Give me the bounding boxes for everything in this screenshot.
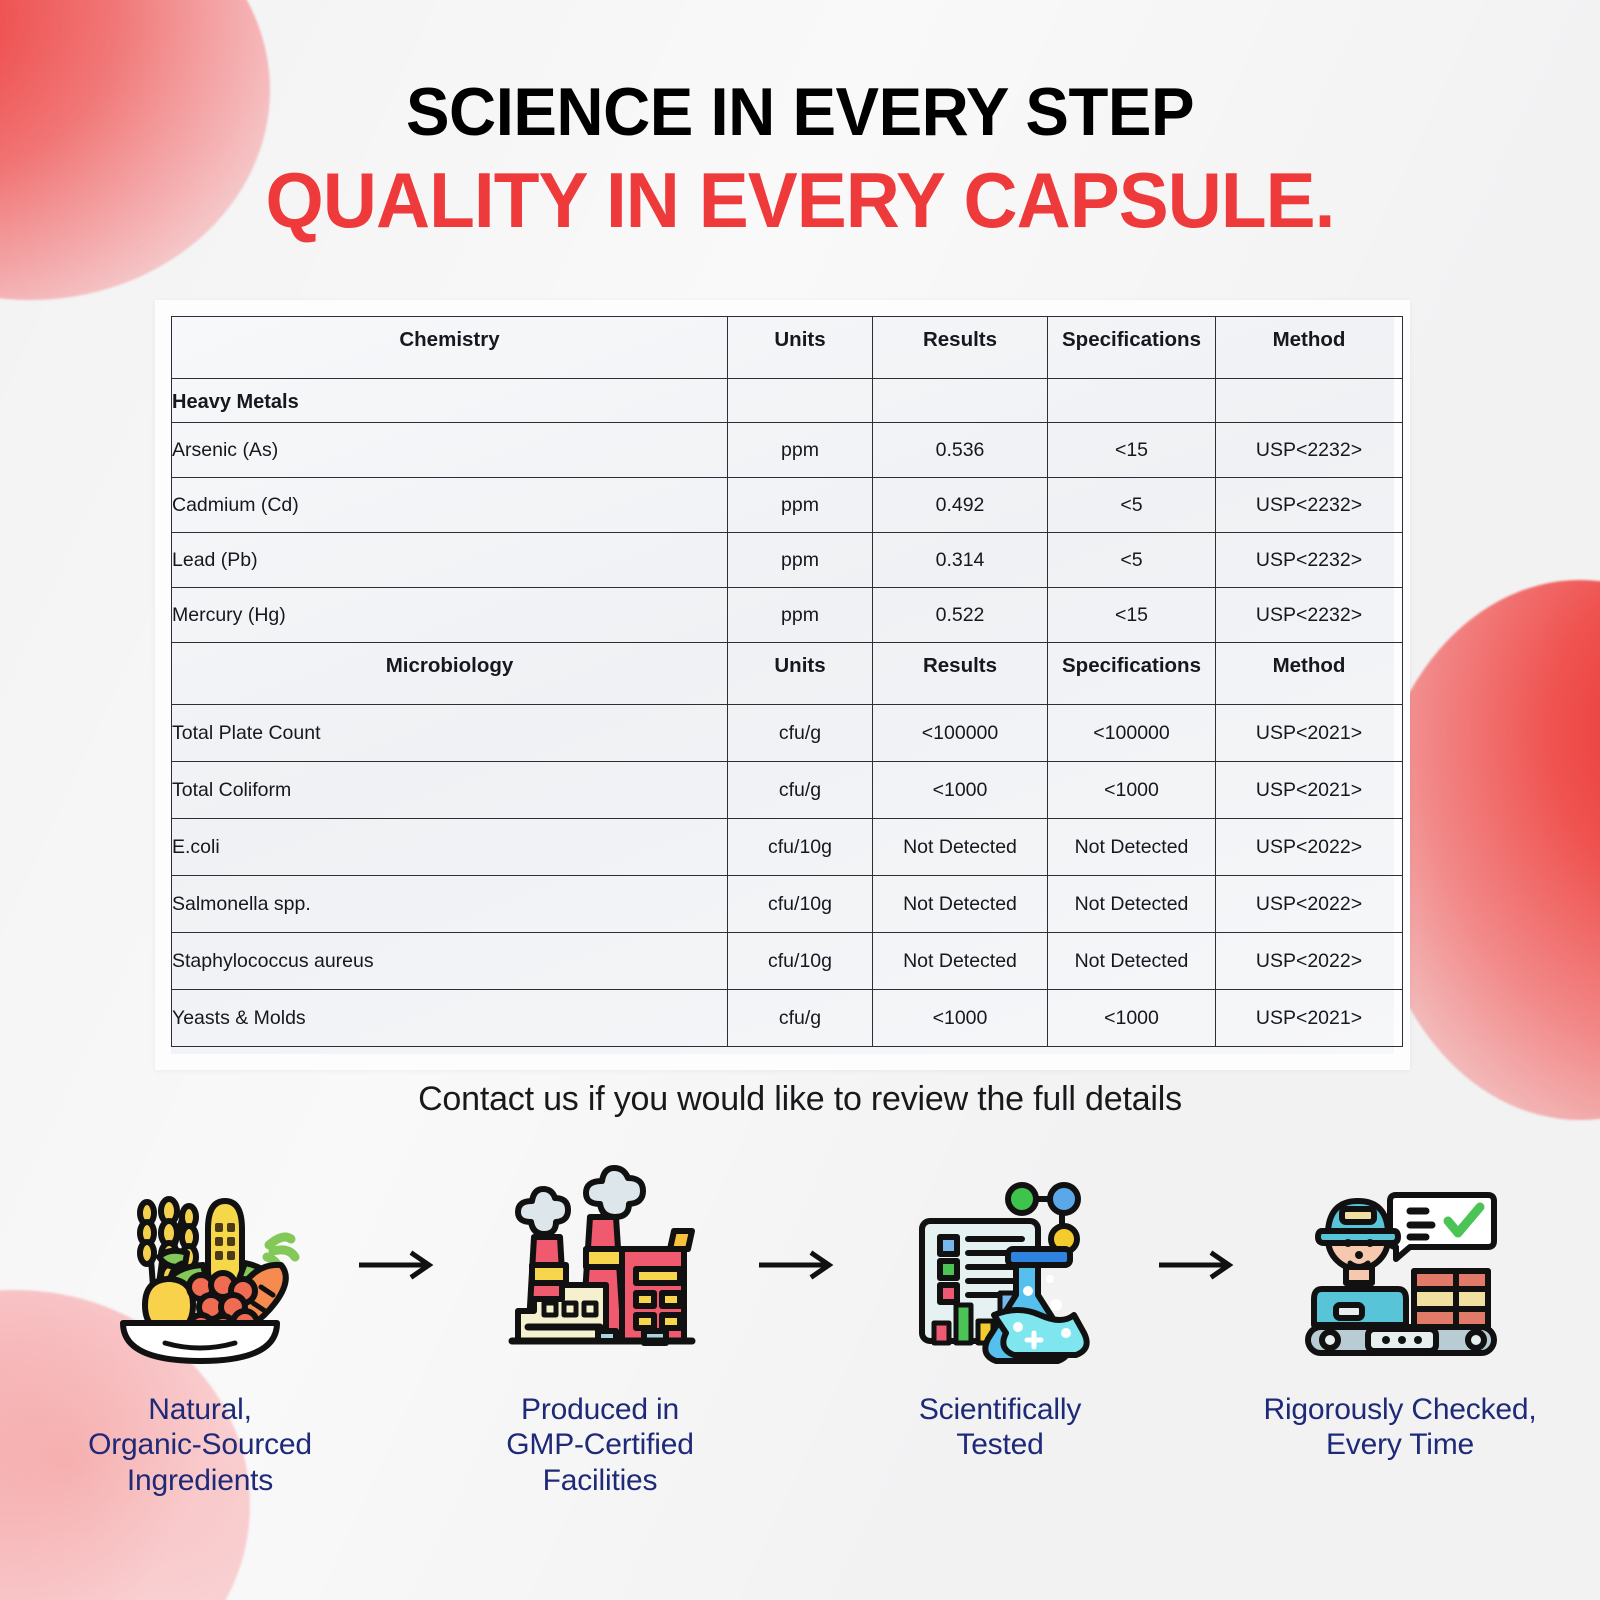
group-units-blank xyxy=(728,379,873,423)
analyte-method: USP<2022> xyxy=(1216,876,1403,933)
col-header-specs-chem: Specifications xyxy=(1048,317,1216,379)
analyte-result: Not Detected xyxy=(873,819,1048,876)
analyte-result: <1000 xyxy=(873,990,1048,1047)
factory-icon xyxy=(450,1160,750,1370)
analyte-name: Staphylococcus aureus xyxy=(172,933,728,990)
analyte-spec: Not Detected xyxy=(1048,876,1216,933)
col-header-results-chem: Results xyxy=(873,317,1048,379)
analyte-spec: Not Detected xyxy=(1048,933,1216,990)
feature-label: Natural,Organic-SourcedIngredients xyxy=(50,1392,350,1498)
fruit-bowl-icon xyxy=(50,1160,350,1370)
col-header-specs-micro: Specifications xyxy=(1048,643,1216,705)
col-header-results-micro: Results xyxy=(873,643,1048,705)
feature-item-scientifically-tested: ScientificallyTested xyxy=(850,1160,1150,1463)
analyte-result: 0.536 xyxy=(873,423,1048,478)
chemistry-header-row: Chemistry Units Results Specifications M… xyxy=(172,317,1403,379)
analyte-spec: <1000 xyxy=(1048,762,1216,819)
analyte-method: USP<2021> xyxy=(1216,705,1403,762)
inspector-conveyor-icon xyxy=(1250,1160,1550,1370)
analyte-result: <1000 xyxy=(873,762,1048,819)
analyte-name: Total Coliform xyxy=(172,762,728,819)
analyte-spec: <15 xyxy=(1048,423,1216,478)
table-row: Salmonella spp. cfu/10g Not Detected Not… xyxy=(172,876,1403,933)
table-row: Total Coliform cfu/g <1000 <1000 USP<202… xyxy=(172,762,1403,819)
table-row: Total Plate Count cfu/g <100000 <100000 … xyxy=(172,705,1403,762)
analyte-spec: Not Detected xyxy=(1048,819,1216,876)
group-results-blank xyxy=(873,379,1048,423)
analyte-units: ppm xyxy=(728,588,873,643)
feature-item-rigorously-checked: Rigorously Checked,Every Time xyxy=(1250,1160,1550,1463)
feature-item-natural-ingredients: Natural,Organic-SourcedIngredients xyxy=(50,1160,350,1498)
analyte-name: Mercury (Hg) xyxy=(172,588,728,643)
analyte-method: USP<2232> xyxy=(1216,423,1403,478)
col-header-method-chem: Method xyxy=(1216,317,1403,379)
analyte-spec: <100000 xyxy=(1048,705,1216,762)
headline-line-1: SCIENCE IN EVERY STEP xyxy=(32,78,1568,146)
col-header-microbiology: Microbiology xyxy=(172,643,728,705)
group-method-blank xyxy=(1216,379,1403,423)
table-row: Lead (Pb) ppm 0.314 <5 USP<2232> xyxy=(172,533,1403,588)
col-header-method-micro: Method xyxy=(1216,643,1403,705)
feature-label: ScientificallyTested xyxy=(850,1392,1150,1463)
analyte-units: ppm xyxy=(728,423,873,478)
table-row: Arsenic (As) ppm 0.536 <15 USP<2232> xyxy=(172,423,1403,478)
analyte-method: USP<2022> xyxy=(1216,819,1403,876)
contact-note: Contact us if you would like to review t… xyxy=(0,1080,1600,1119)
lab-report-flask-icon xyxy=(850,1160,1150,1370)
analyte-method: USP<2021> xyxy=(1216,990,1403,1047)
analyte-name: Yeasts & Molds xyxy=(172,990,728,1047)
analyte-name: Total Plate Count xyxy=(172,705,728,762)
feature-item-gmp-facilities: Produced inGMP-CertifiedFacilities xyxy=(450,1160,750,1498)
analyte-units: cfu/10g xyxy=(728,933,873,990)
analyte-method: USP<2232> xyxy=(1216,533,1403,588)
analyte-units: ppm xyxy=(728,478,873,533)
analyte-units: ppm xyxy=(728,533,873,588)
feature-label: Rigorously Checked,Every Time xyxy=(1250,1392,1550,1463)
analyte-units: cfu/10g xyxy=(728,876,873,933)
analyte-spec: <5 xyxy=(1048,533,1216,588)
analyte-result: Not Detected xyxy=(873,876,1048,933)
analyte-name: Arsenic (As) xyxy=(172,423,728,478)
analyte-units: cfu/g xyxy=(728,762,873,819)
heavy-metals-group-row: Heavy Metals xyxy=(172,379,1403,423)
table-row: Mercury (Hg) ppm 0.522 <15 USP<2232> xyxy=(172,588,1403,643)
arrow-right-icon xyxy=(750,1160,850,1370)
table-row: E.coli cfu/10g Not Detected Not Detected… xyxy=(172,819,1403,876)
analyte-result: Not Detected xyxy=(873,933,1048,990)
poster-page: SCIENCE IN EVERY STEP QUALITY IN EVERY C… xyxy=(0,0,1600,1600)
coa-document-card: Chemistry Units Results Specifications M… xyxy=(155,300,1410,1070)
arrow-right-icon xyxy=(1150,1160,1250,1370)
col-header-units-micro: Units xyxy=(728,643,873,705)
analyte-name: Lead (Pb) xyxy=(172,533,728,588)
analyte-name: E.coli xyxy=(172,819,728,876)
coa-results-table: Chemistry Units Results Specifications M… xyxy=(171,316,1403,1047)
arrow-right-icon xyxy=(350,1160,450,1370)
analyte-method: USP<2021> xyxy=(1216,762,1403,819)
headline-line-2: QUALITY IN EVERY CAPSULE. xyxy=(32,160,1568,242)
headline-block: SCIENCE IN EVERY STEP QUALITY IN EVERY C… xyxy=(0,0,1600,242)
analyte-method: USP<2022> xyxy=(1216,933,1403,990)
analyte-units: cfu/10g xyxy=(728,819,873,876)
analyte-result: 0.522 xyxy=(873,588,1048,643)
col-header-chemistry: Chemistry xyxy=(172,317,728,379)
table-row: Staphylococcus aureus cfu/10g Not Detect… xyxy=(172,933,1403,990)
analyte-spec: <1000 xyxy=(1048,990,1216,1047)
analyte-method: USP<2232> xyxy=(1216,478,1403,533)
analyte-units: cfu/g xyxy=(728,990,873,1047)
analyte-spec: <15 xyxy=(1048,588,1216,643)
feature-strip: Natural,Organic-SourcedIngredients xyxy=(0,1160,1600,1498)
group-specs-blank xyxy=(1048,379,1216,423)
analyte-method: USP<2232> xyxy=(1216,588,1403,643)
analyte-name: Cadmium (Cd) xyxy=(172,478,728,533)
microbiology-header-row: Microbiology Units Results Specification… xyxy=(172,643,1403,705)
analyte-result: 0.492 xyxy=(873,478,1048,533)
analyte-name: Salmonella spp. xyxy=(172,876,728,933)
table-row: Cadmium (Cd) ppm 0.492 <5 USP<2232> xyxy=(172,478,1403,533)
col-header-units-chem: Units xyxy=(728,317,873,379)
analyte-result: <100000 xyxy=(873,705,1048,762)
analyte-units: cfu/g xyxy=(728,705,873,762)
analyte-result: 0.314 xyxy=(873,533,1048,588)
analyte-spec: <5 xyxy=(1048,478,1216,533)
feature-label: Produced inGMP-CertifiedFacilities xyxy=(450,1392,750,1498)
table-row: Yeasts & Molds cfu/g <1000 <1000 USP<202… xyxy=(172,990,1403,1047)
group-label-heavy-metals: Heavy Metals xyxy=(172,379,728,423)
